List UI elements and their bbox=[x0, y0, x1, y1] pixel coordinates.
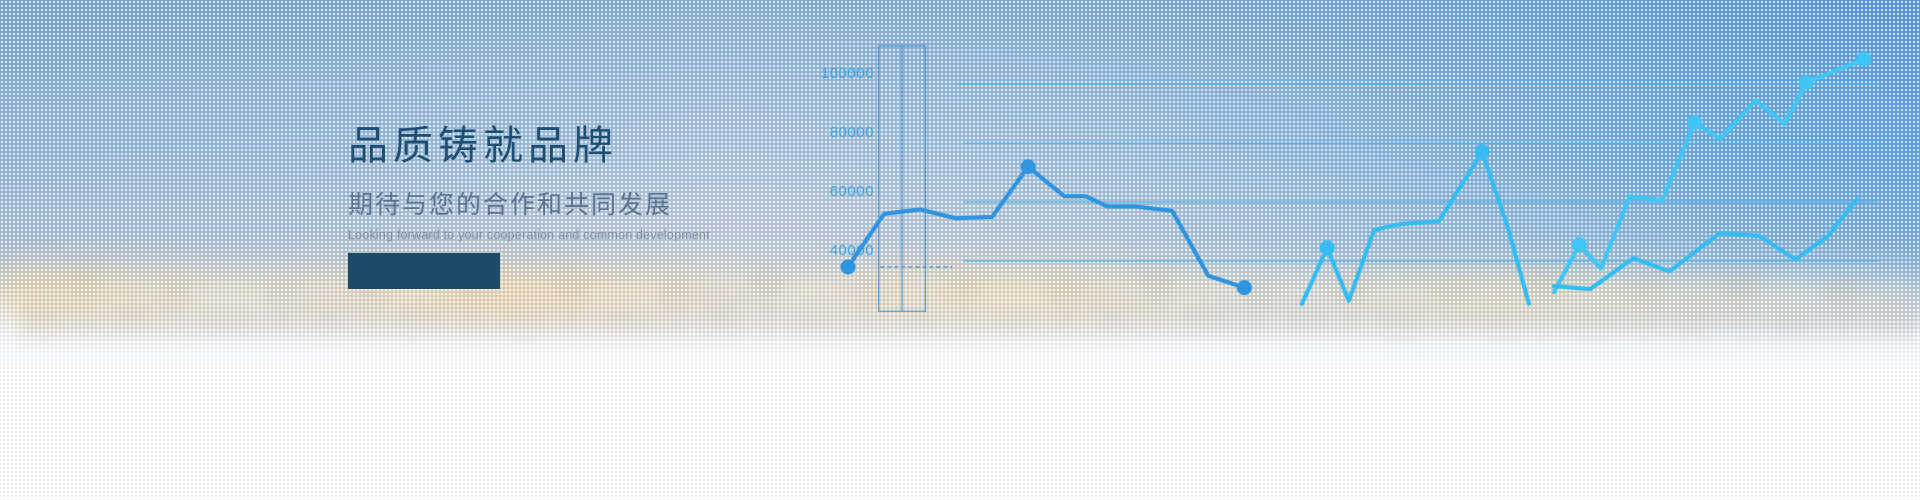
data-point-marker bbox=[1799, 75, 1814, 90]
chart-svg: 400006000080000100000 bbox=[760, 0, 1920, 500]
y-axis-tick-label: 60000 bbox=[830, 183, 874, 200]
y-axis-tick-label: 100000 bbox=[821, 65, 874, 82]
data-point-marker bbox=[1237, 280, 1252, 295]
series-line bbox=[1554, 59, 1864, 292]
series-line bbox=[1554, 199, 1857, 289]
hero-text-block: 品质铸就品牌 期待与您的合作和共同发展 Looking forward to y… bbox=[348, 126, 710, 242]
series-line bbox=[848, 167, 1244, 288]
data-point-marker bbox=[1320, 240, 1335, 255]
data-point-marker bbox=[1021, 159, 1036, 174]
english-tagline: Looking forward to your cooperation and … bbox=[348, 229, 710, 242]
data-point-marker bbox=[1572, 237, 1587, 252]
data-point-marker bbox=[1687, 115, 1702, 130]
series-line bbox=[1302, 152, 1529, 304]
data-point-marker bbox=[841, 259, 856, 274]
y-axis-tick-label: 40000 bbox=[830, 242, 874, 259]
data-point-marker bbox=[1856, 52, 1871, 67]
data-point-marker bbox=[1475, 145, 1490, 160]
y-axis-tick-label: 80000 bbox=[830, 124, 874, 141]
line-chart: 400006000080000100000 bbox=[760, 0, 1920, 500]
subheadline: 期待与您的合作和共同发展 bbox=[348, 193, 710, 218]
cta-button[interactable] bbox=[348, 253, 500, 289]
hero-banner: 品质铸就品牌 期待与您的合作和共同发展 Looking forward to y… bbox=[0, 0, 1920, 500]
headline: 品质铸就品牌 bbox=[348, 126, 710, 166]
